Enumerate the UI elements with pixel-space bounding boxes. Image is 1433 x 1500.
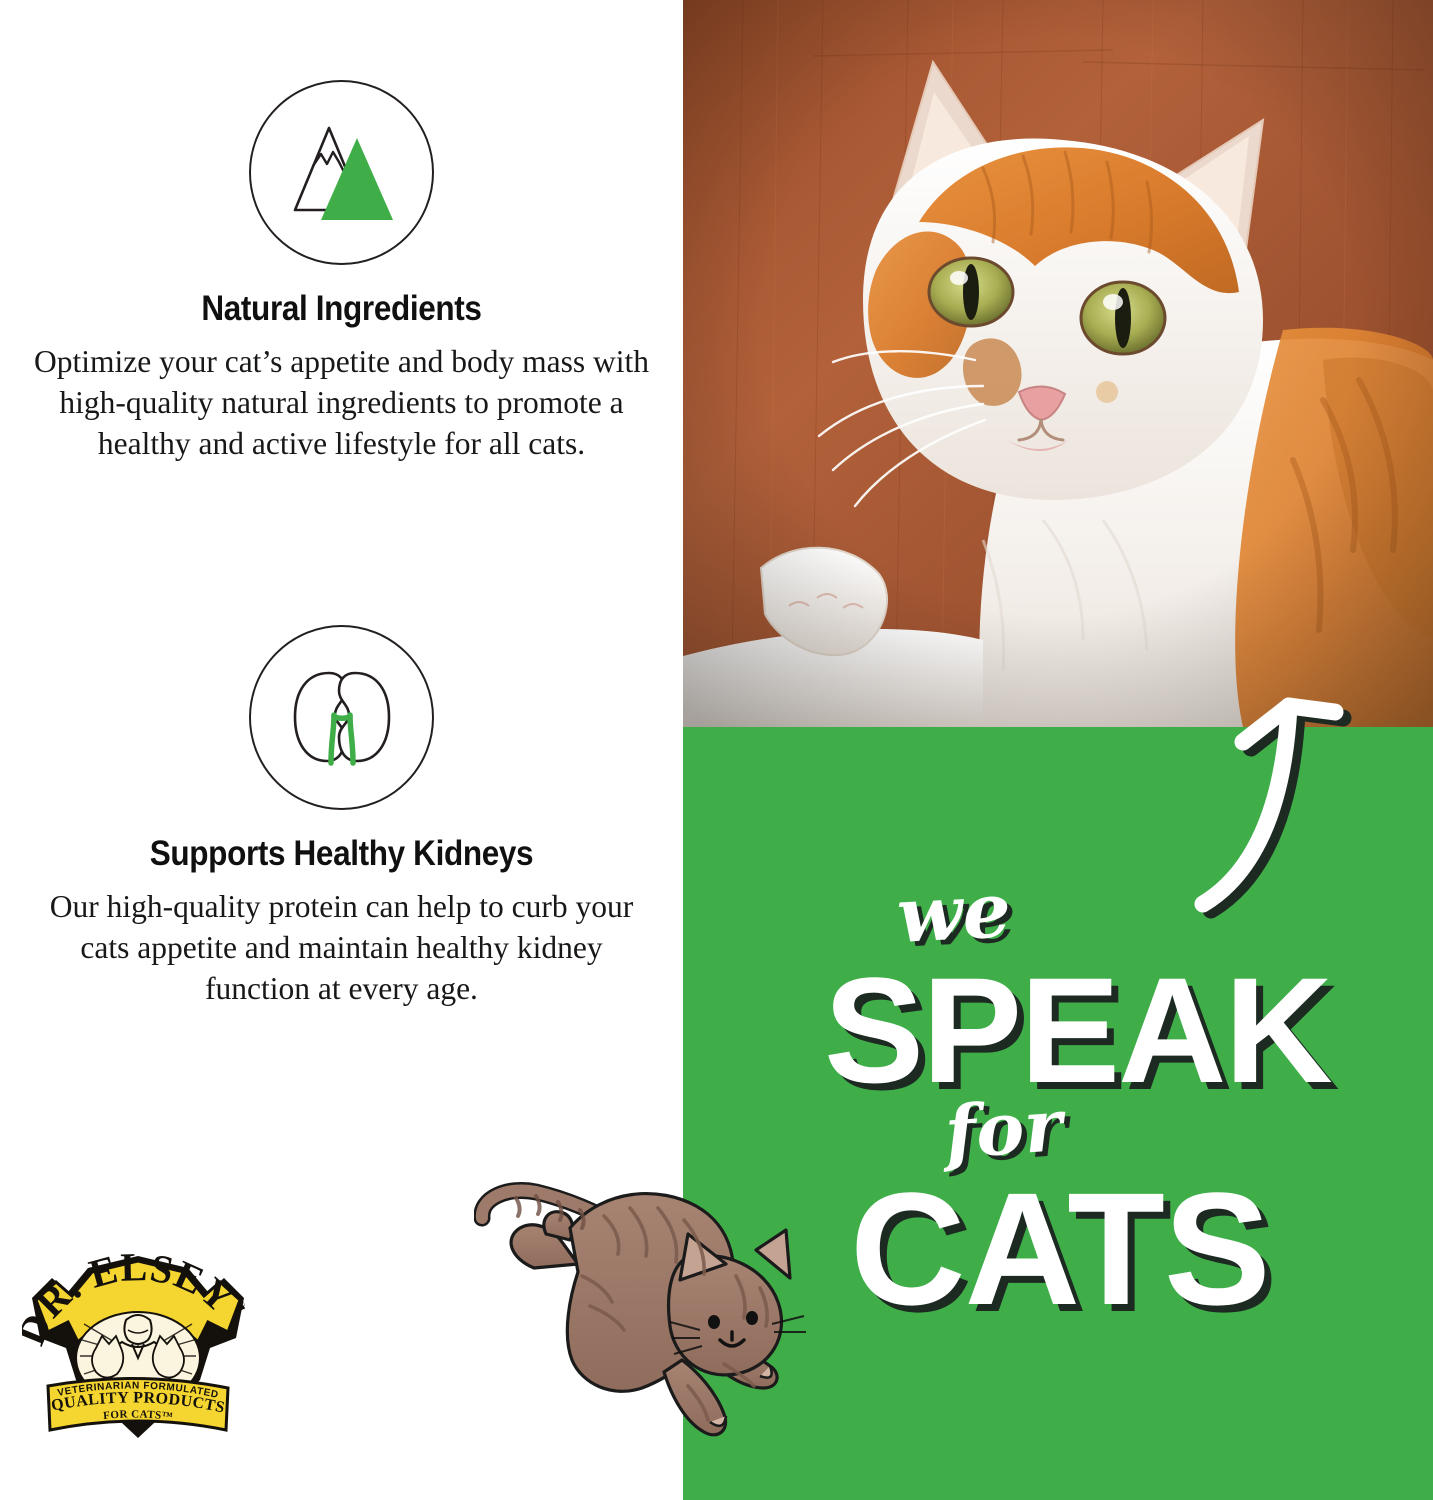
feature-supports-healthy-kidneys: Supports Healthy Kidneys Our high-qualit… xyxy=(0,625,683,1010)
dr-elseys-logo: DR. ELSEY'S ® VETERINARIAN FORMULATED QU… xyxy=(22,1252,254,1442)
leaping-tabby-cat-illustration xyxy=(474,1172,846,1452)
feature-title: Supports Healthy Kidneys xyxy=(34,836,649,873)
feature-natural-ingredients: Natural Ingredients Optimize your cat’s … xyxy=(0,80,683,465)
kidneys-icon xyxy=(249,625,434,810)
feature-body: Our high-quality protein can help to cur… xyxy=(32,887,652,1010)
marketing-infographic: Natural Ingredients Optimize your cat’s … xyxy=(0,0,1433,1500)
feature-title: Natural Ingredients xyxy=(34,291,649,328)
logo-registered-mark: ® xyxy=(238,1300,245,1310)
feature-body: Optimize your cat’s appetite and body ma… xyxy=(32,342,652,465)
cat-photo xyxy=(683,0,1433,727)
mountain-icon xyxy=(249,80,434,265)
